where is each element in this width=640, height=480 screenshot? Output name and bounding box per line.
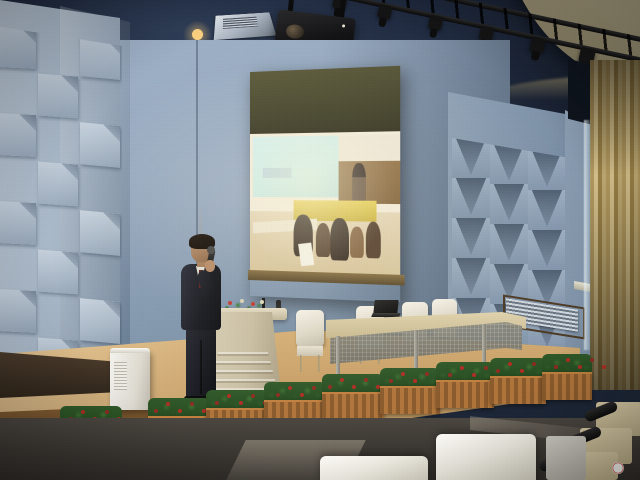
stage-spotlight-4 (479, 26, 494, 41)
planter-bloom (364, 378, 368, 382)
foreground-chair-right (436, 434, 536, 480)
foreground-chair-left (320, 456, 428, 480)
pyramid-acoustic-panel (528, 190, 566, 230)
planter-bloom (566, 358, 570, 362)
planter-box-5 (380, 386, 440, 414)
planter-box-6 (436, 380, 494, 408)
planter-bloom (166, 402, 170, 406)
pyramid-acoustic-panel (452, 178, 490, 218)
planter-bloom (554, 365, 558, 369)
screen-glow (250, 131, 400, 277)
acoustic-block (0, 25, 36, 69)
acoustic-block (80, 122, 120, 168)
acoustic-block (0, 113, 36, 157)
planter-bloom (425, 372, 429, 376)
planter-bloom (312, 386, 316, 390)
pyramid-acoustic-panel (452, 138, 490, 178)
planter-bloom (472, 373, 476, 377)
acoustic-block (38, 250, 78, 295)
planter-bloom (578, 365, 582, 369)
laptop-screen (373, 300, 398, 314)
planter-bloom (300, 393, 304, 397)
planter-bloom (190, 402, 194, 406)
acoustic-block (0, 289, 36, 333)
planter-bloom (215, 401, 219, 405)
acoustic-block (80, 210, 120, 256)
planter-box-4 (322, 392, 384, 420)
projector-status-led (342, 24, 345, 27)
pyramid-acoustic-panel (490, 144, 528, 184)
acoustic-block (0, 201, 36, 245)
acoustic-block (38, 74, 78, 119)
planter-bloom (520, 369, 524, 373)
pyramid-acoustic-panel (528, 230, 566, 270)
planter-bloom (401, 372, 405, 376)
screen-valance (250, 66, 400, 134)
planter-bloom (496, 369, 500, 373)
pyramid-acoustic-panel (452, 258, 490, 298)
acoustic-block (38, 162, 78, 207)
laptop-keyboard-base (371, 313, 401, 317)
planter-bloom (413, 379, 417, 383)
planter-bloom (590, 358, 594, 362)
ceiling-air-vent-left-icon (214, 12, 277, 40)
seat-number-medallion (612, 462, 624, 474)
planter-bloom (448, 373, 452, 377)
planter-bloom (460, 366, 464, 370)
stage-spotlight-3 (428, 15, 443, 30)
downlight-1 (192, 29, 203, 40)
projection-screen (250, 66, 400, 303)
microphone-capsule-icon (207, 246, 215, 254)
presenter-hand (205, 260, 215, 272)
planter-bloom (508, 362, 512, 366)
theater-seat-side-panel (546, 436, 586, 480)
planter-bloom (328, 385, 332, 389)
stage-spotlight-2 (377, 4, 392, 19)
planter-bloom (251, 394, 255, 398)
planter-bloom (178, 409, 182, 413)
planter-bloom (340, 378, 344, 382)
planter-bloom (532, 362, 536, 366)
planter-bloom (81, 410, 85, 414)
planter-bloom (352, 385, 356, 389)
photograph-auditorium-presentation (0, 0, 640, 480)
planter-box-7 (490, 376, 546, 404)
planter-bloom (105, 410, 109, 414)
laptop (372, 300, 400, 318)
planter-box-9 (542, 372, 592, 400)
pyramid-acoustic-panel (490, 184, 528, 224)
planter-bloom (288, 386, 292, 390)
planter-bloom (227, 394, 231, 398)
planter-bloom (276, 393, 280, 397)
planter-bloom (239, 401, 243, 405)
planter-bloom (389, 379, 393, 383)
pyramid-acoustic-panel (490, 224, 528, 264)
stage-spotlight-5 (529, 36, 546, 53)
planter-bloom (154, 409, 158, 413)
projector-lens-icon (285, 24, 305, 40)
planter-bloom (602, 365, 606, 369)
acoustic-block (80, 298, 120, 344)
planter-bloom (484, 366, 488, 370)
pyramid-acoustic-panel (452, 218, 490, 258)
